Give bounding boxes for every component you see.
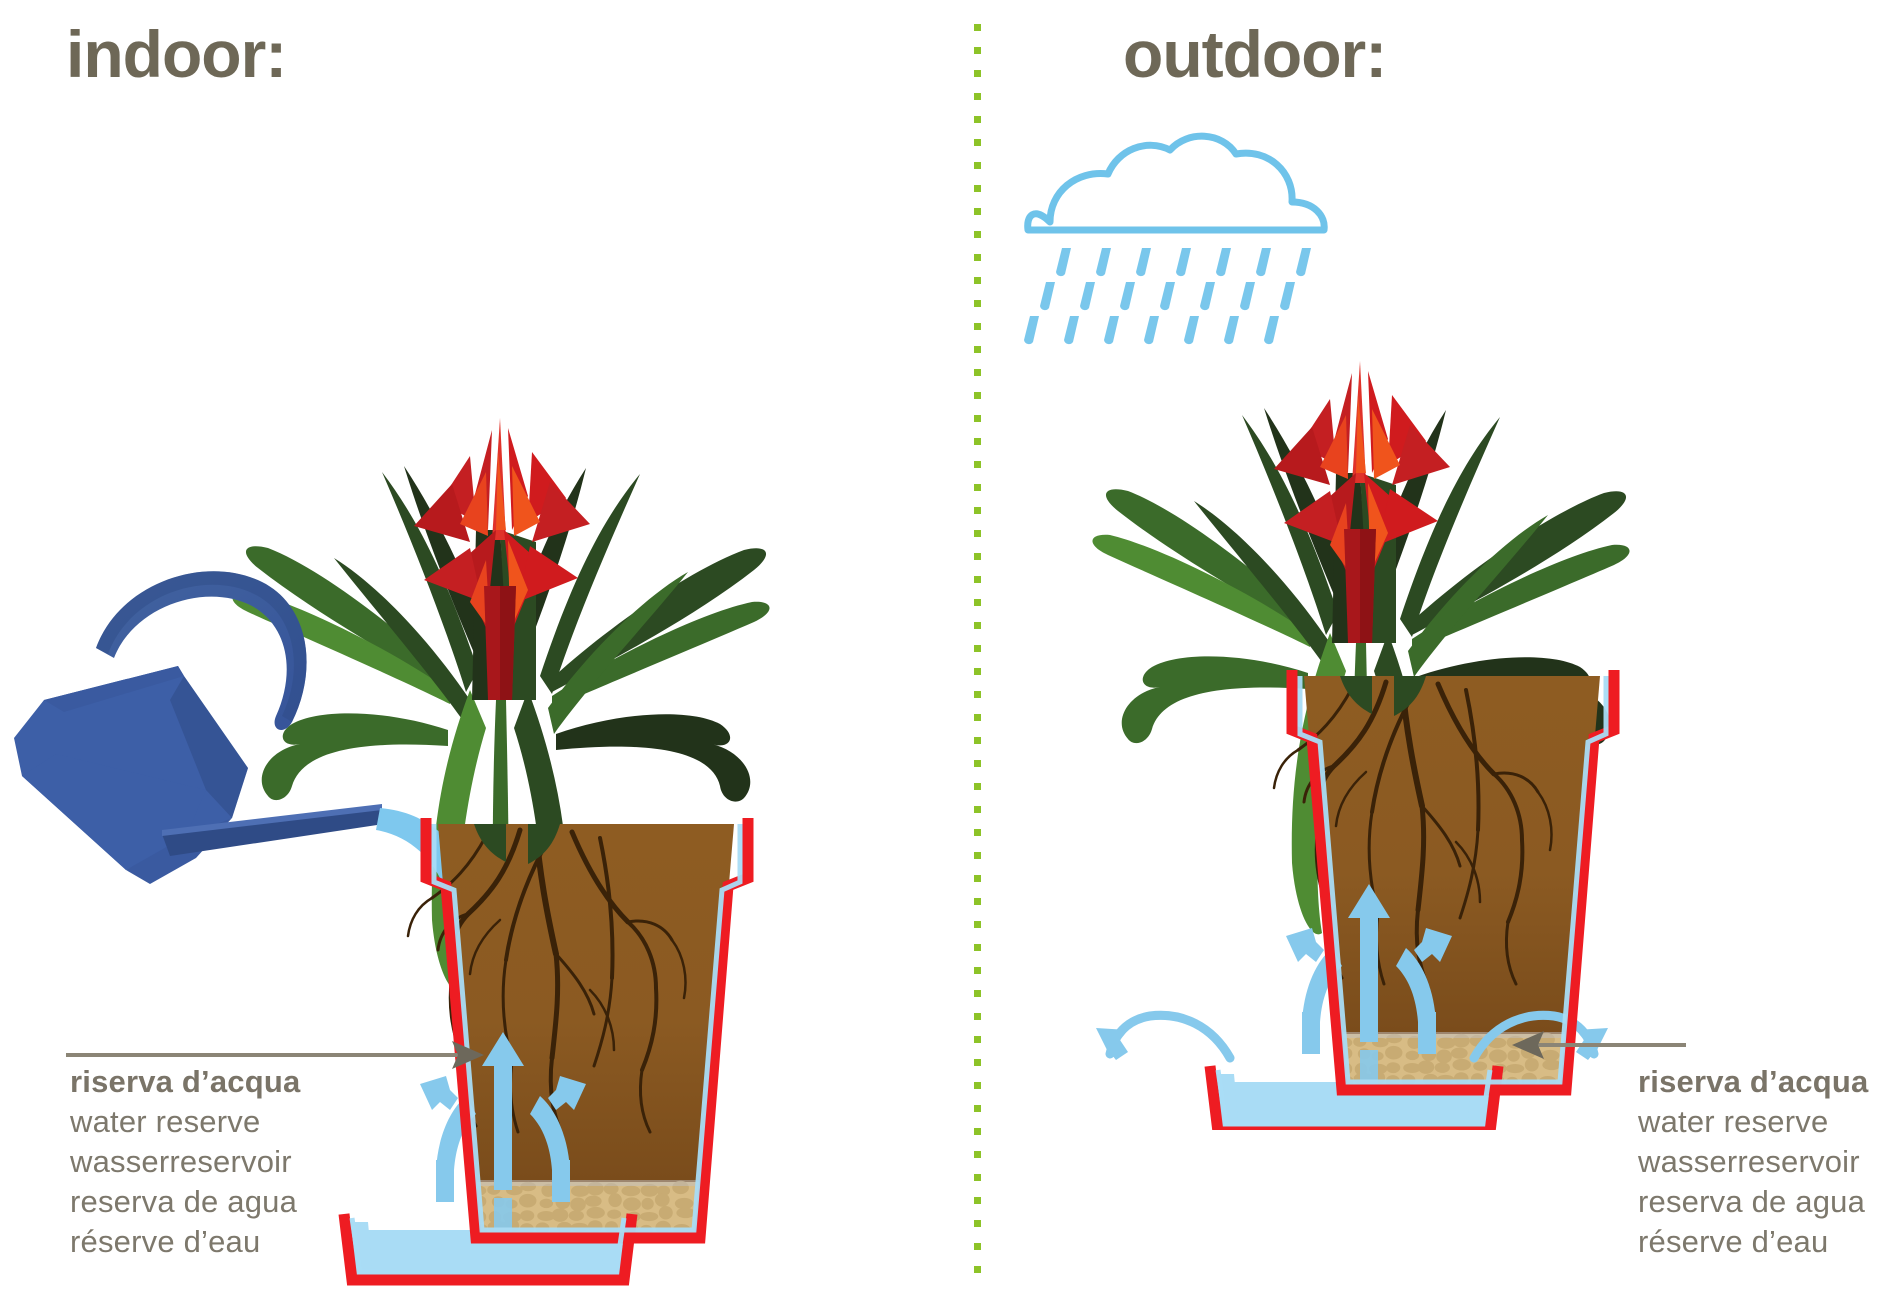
panel-title-outdoor: outdoor: [1123,16,1386,92]
infographic-canvas: indoor: outdoor: [0,0,1900,1292]
water-reserve-label-outdoor: riserva d’acqua water reserve wasserrese… [1638,1062,1868,1262]
soil-layer-icon [438,824,734,1182]
label-line-fr: réserve d’eau [1638,1222,1868,1262]
water-reserve-label-indoor: riserva d’acqua water reserve wasserrese… [70,1062,300,1262]
raindrop-group [1024,248,1311,344]
rain-cloud-icon [1024,136,1324,344]
outdoor-illustration [900,130,1820,1130]
panel-title-indoor: indoor: [66,16,286,92]
pointer-arrow-left-icon [1510,1028,1690,1062]
label-line-es: reserva de agua [1638,1182,1868,1222]
label-line-es: reserva de agua [70,1182,300,1222]
label-line-en: water reserve [70,1102,300,1142]
label-line-it: riserva d’acqua [1638,1062,1868,1102]
soil-layer-icon [1304,676,1600,1034]
label-line-fr: réserve d’eau [70,1222,300,1262]
label-line-en: water reserve [1638,1102,1868,1142]
label-line-de: wasserreservoir [70,1142,300,1182]
label-line-de: wasserreservoir [1638,1142,1868,1182]
label-line-it: riserva d’acqua [70,1062,300,1102]
